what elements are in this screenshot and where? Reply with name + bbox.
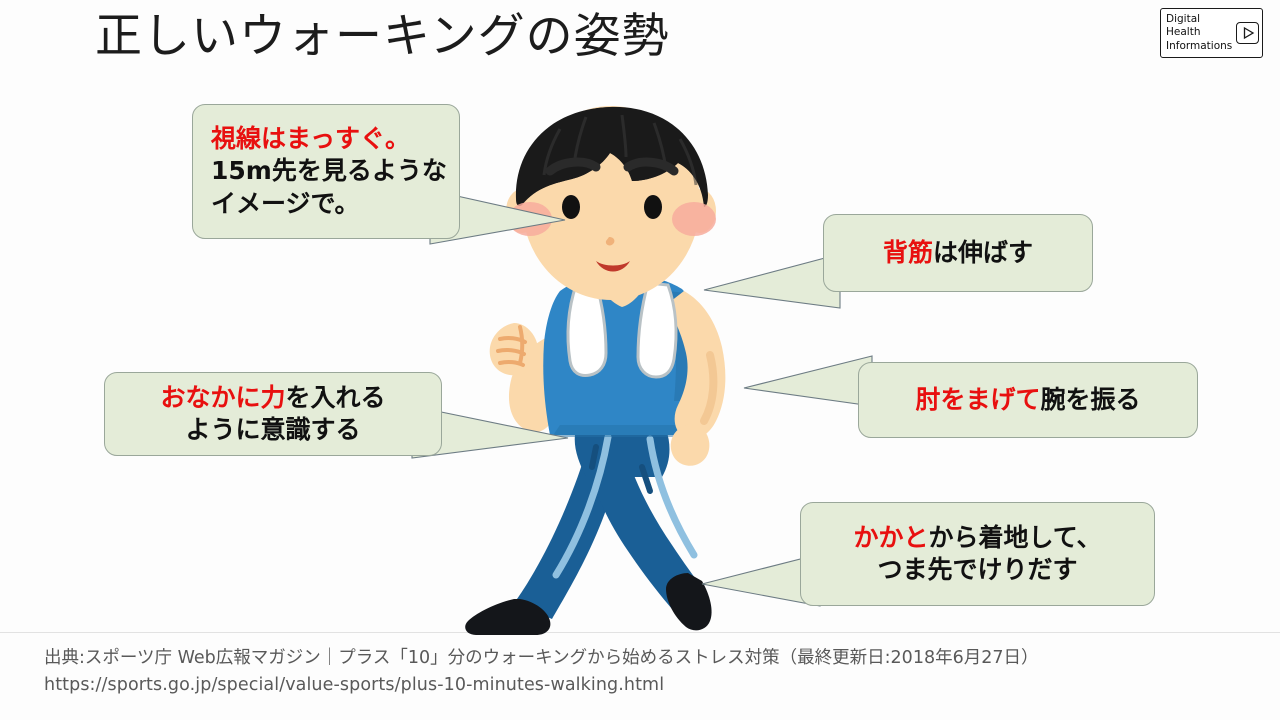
callout-back-text: 背筋は伸ばす (883, 237, 1033, 270)
callout-back[interactable]: 背筋は伸ばす (823, 214, 1093, 292)
footer-source-line: 出典:スポーツ庁 Web広報マガジン｜プラス「10」分のウォーキングから始めるス… (44, 645, 1244, 672)
logo-line-3: Informations (1166, 40, 1232, 53)
footer-url[interactable]: https://sports.go.jp/special/value-sport… (44, 672, 1244, 699)
callout-back-highlight: 背筋 (883, 238, 933, 267)
callout-tail-arms (742, 352, 872, 412)
right-eye (644, 195, 662, 219)
left-fist (490, 323, 539, 375)
callout-back-rest: は伸ばす (933, 238, 1033, 267)
callout-heel-highlight: かかと (853, 523, 928, 552)
callout-gaze-highlight: 視線はまっすぐ。 (211, 124, 410, 153)
shoes (465, 573, 711, 635)
callout-gaze-rest: 15m先を見るようなイメージで。 (211, 156, 447, 218)
callout-arms-highlight: 肘をまげて (915, 385, 1040, 414)
brand-logo: Digital Health Informations (1160, 8, 1263, 58)
callout-belly-highlight: おなかに力 (160, 383, 285, 412)
callout-belly-text: おなかに力を入れる ように意識する (160, 382, 385, 447)
callout-gaze[interactable]: 視線はまっすぐ。15m先を見るようなイメージで。 (192, 104, 460, 239)
logo-line-1: Digital (1166, 13, 1232, 26)
callout-arms[interactable]: 肘をまげて腕を振る (858, 362, 1198, 438)
callout-arms-rest: 腕を振る (1041, 385, 1141, 414)
callout-tail-back (700, 250, 840, 318)
callout-belly[interactable]: おなかに力を入れる ように意識する (104, 372, 442, 456)
logo-text-block: Digital Health Informations (1166, 13, 1232, 53)
slide-canvas: 正しいウォーキングの姿勢 Digital Health Informations (0, 0, 1280, 720)
callout-heel-text: かかとから着地して、 つま先でけりだす (853, 522, 1101, 587)
play-triangle-icon (1236, 22, 1259, 44)
callout-gaze-text: 視線はまっすぐ。15m先を見るようなイメージで。 (193, 123, 459, 221)
callout-heel[interactable]: かかとから着地して、 つま先でけりだす (800, 502, 1155, 606)
logo-line-2: Health (1166, 26, 1232, 39)
page-title: 正しいウォーキングの姿勢 (95, 8, 670, 67)
footer-credit: 出典:スポーツ庁 Web広報マガジン｜プラス「10」分のウォーキングから始めるス… (44, 645, 1244, 699)
callout-arms-text: 肘をまげて腕を振る (915, 384, 1140, 417)
